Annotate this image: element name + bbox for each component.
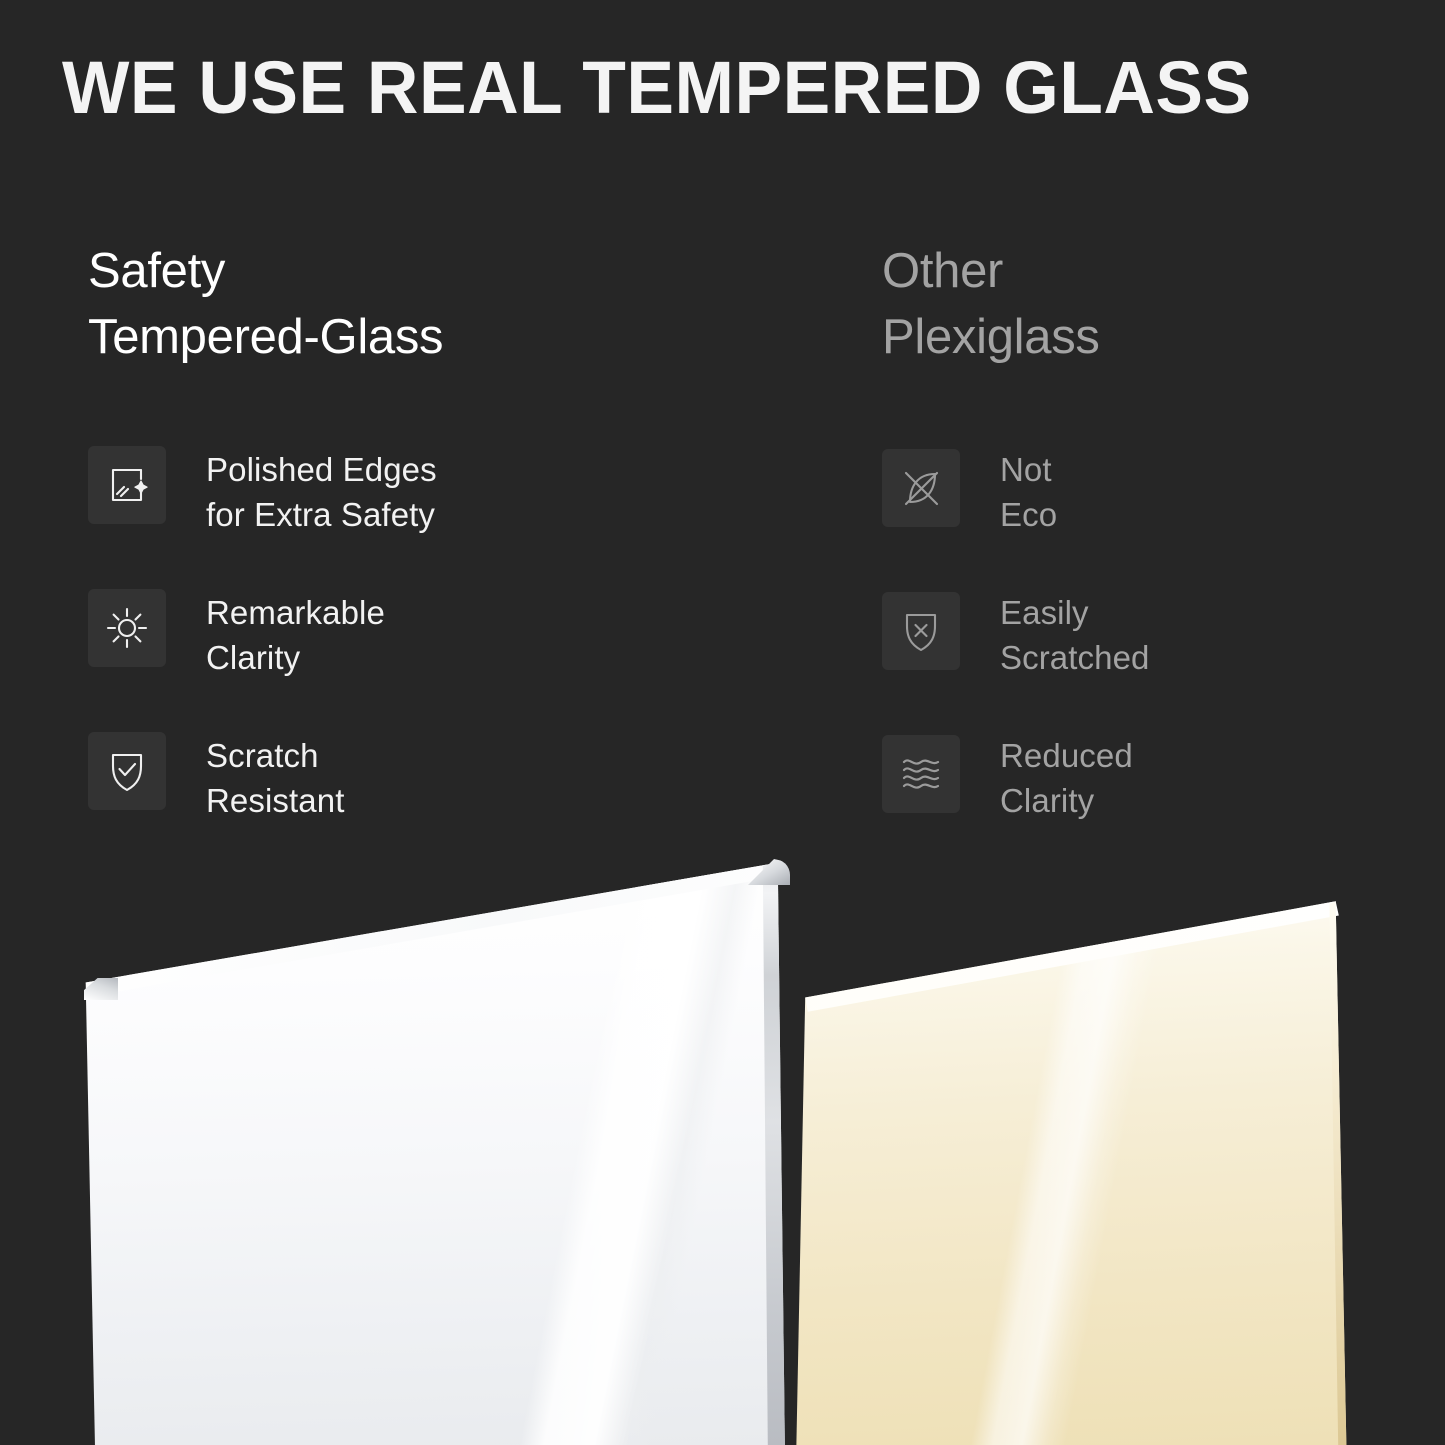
column-title-safety-tempered-glass: Safety Tempered-Glass bbox=[88, 238, 788, 370]
feature-list-tempered-glass: Polished Edges for Extra Safety bbox=[88, 444, 788, 873]
glass-panel-comparison-photo bbox=[0, 840, 1445, 1445]
feature-list-plexiglass: Not Eco Easily Scratched bbox=[882, 444, 1402, 873]
shield-check-icon bbox=[88, 732, 166, 810]
feature-label-not-eco: Not Eco bbox=[960, 444, 1057, 537]
tempered-glass-panel-corner-top-left bbox=[84, 978, 118, 1000]
feature-label-remarkable-clarity: Remarkable Clarity bbox=[166, 587, 385, 680]
page-title: WE USE REAL TEMPERED GLASS bbox=[62, 42, 1345, 134]
shield-x-icon bbox=[882, 592, 960, 670]
plexiglass-panel bbox=[780, 898, 1410, 1445]
column-title-other-plexiglass: Other Plexiglass bbox=[882, 238, 1402, 370]
feature-row-easily-scratched: Easily Scratched bbox=[882, 587, 1402, 730]
feature-label-polished-edges: Polished Edges for Extra Safety bbox=[166, 444, 437, 537]
feature-label-scratch-resistant: Scratch Resistant bbox=[166, 730, 344, 823]
feature-row-remarkable-clarity: Remarkable Clarity bbox=[88, 587, 788, 730]
sun-brightness-icon bbox=[88, 589, 166, 667]
column-safety-tempered-glass: Safety Tempered-Glass Polished Edges for… bbox=[88, 238, 788, 370]
feature-label-reduced-clarity: Reduced Clarity bbox=[960, 730, 1133, 823]
leaf-crossed-out-icon bbox=[882, 449, 960, 527]
feature-row-polished-edges: Polished Edges for Extra Safety bbox=[88, 444, 788, 587]
wavy-lines-icon bbox=[882, 735, 960, 813]
feature-row-not-eco: Not Eco bbox=[882, 444, 1402, 587]
tempered-glass-panel bbox=[80, 858, 792, 1445]
comparison-infographic: WE USE REAL TEMPERED GLASS Safety Temper… bbox=[0, 0, 1445, 1445]
column-other-plexiglass: Other Plexiglass Not Eco bbox=[882, 238, 1402, 370]
feature-label-easily-scratched: Easily Scratched bbox=[960, 587, 1149, 680]
polished-glass-pane-sparkle-icon bbox=[88, 446, 166, 524]
